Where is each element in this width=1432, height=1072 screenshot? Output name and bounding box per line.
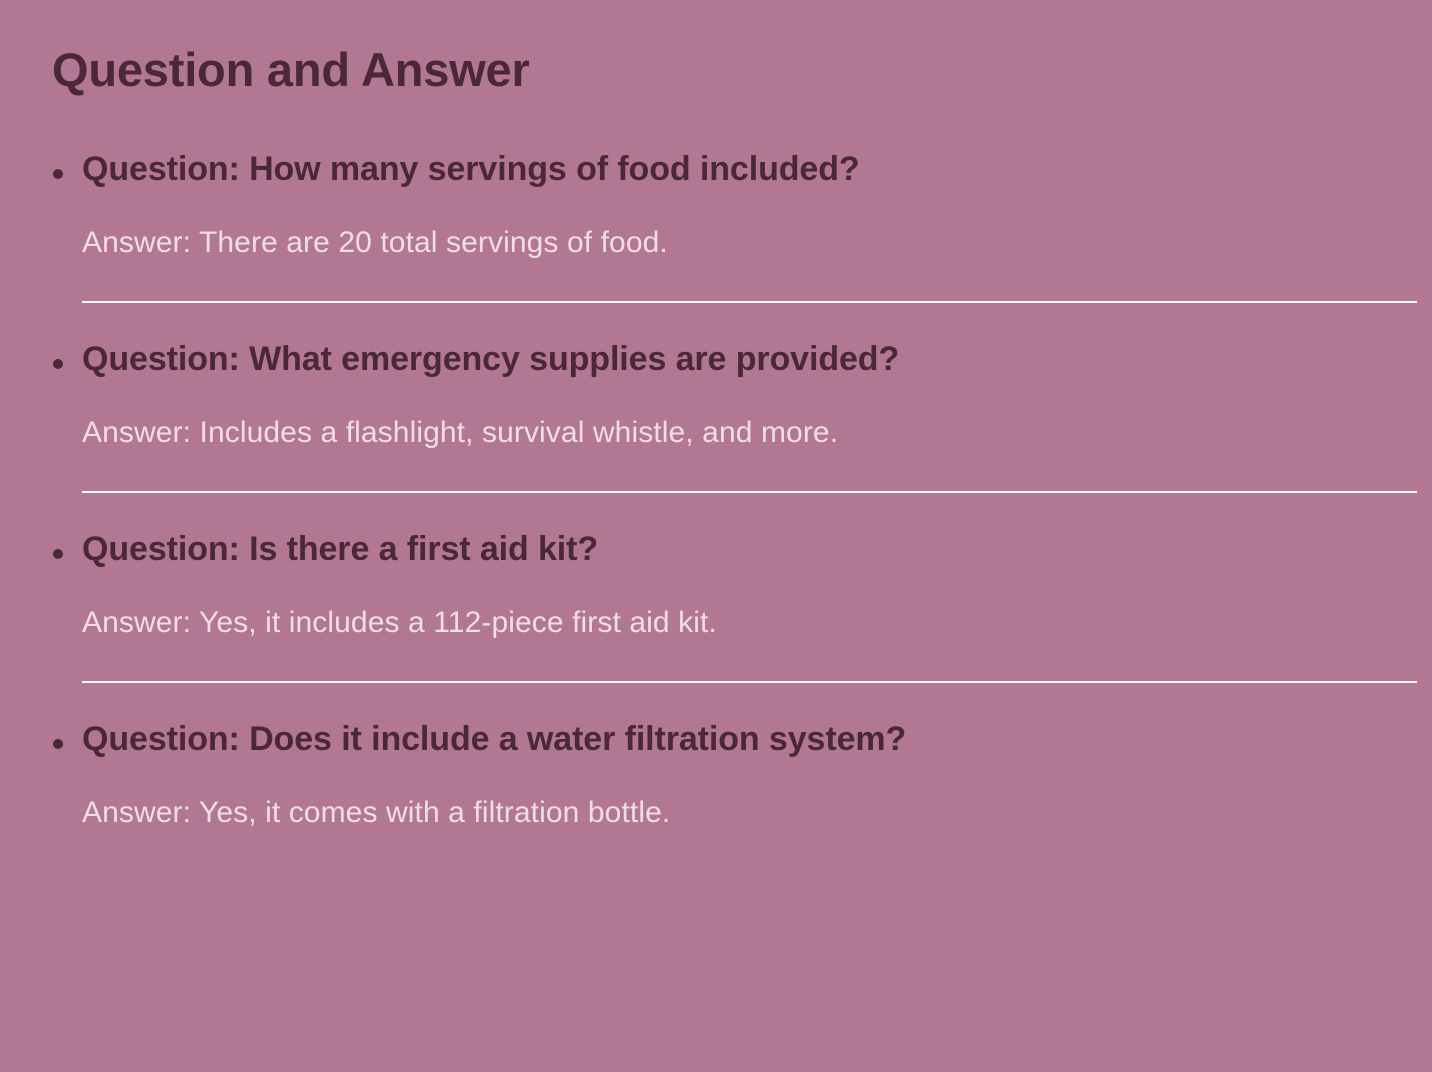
qa-answer: Answer: Includes a flashlight, survival … xyxy=(82,414,1386,452)
bullet-icon xyxy=(53,169,63,179)
qa-answer: Answer: Yes, it comes with a filtration … xyxy=(82,794,1386,832)
list-item: Question: What emergency supplies are pr… xyxy=(50,303,1386,493)
qa-answer: Answer: There are 20 total servings of f… xyxy=(82,224,1386,262)
list-item: Question: Does it include a water filtra… xyxy=(50,683,1386,832)
qa-list: Question: How many servings of food incl… xyxy=(50,149,1386,832)
bullet-icon xyxy=(53,549,63,559)
question-and-answer-panel: Question and Answer Question: How many s… xyxy=(0,0,1432,1072)
qa-answer: Answer: Yes, it includes a 112-piece fir… xyxy=(82,604,1386,642)
qa-question: Question: Is there a first aid kit? xyxy=(82,529,1386,570)
list-item: Question: Is there a first aid kit? Answ… xyxy=(50,493,1386,683)
qa-question: Question: Does it include a water filtra… xyxy=(82,719,1386,760)
qa-question: Question: How many servings of food incl… xyxy=(82,149,1386,190)
bullet-icon xyxy=(53,739,63,749)
bullet-icon xyxy=(53,359,63,369)
qa-question: Question: What emergency supplies are pr… xyxy=(82,339,1386,380)
page-title: Question and Answer xyxy=(52,44,1386,97)
list-item: Question: How many servings of food incl… xyxy=(50,149,1386,303)
